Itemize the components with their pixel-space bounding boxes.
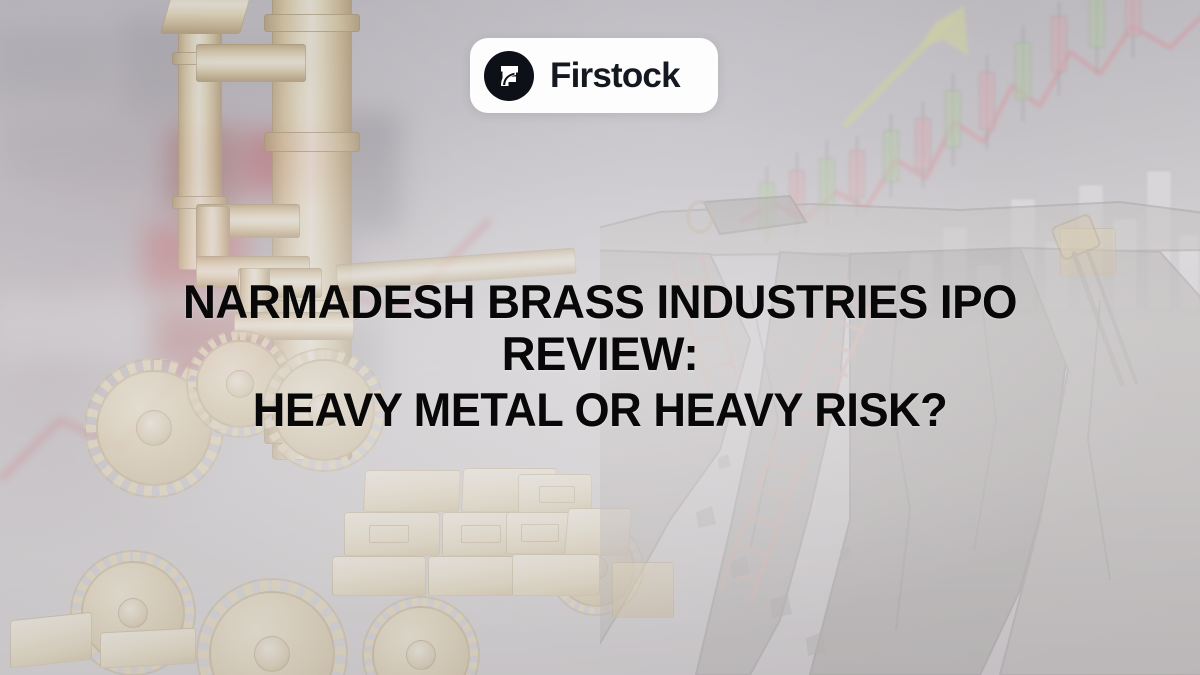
firstock-f-arrow-icon — [484, 51, 534, 101]
headline-line-1: Narmadesh Brass Industries IPO — [57, 278, 1143, 325]
brand-name: Firstock — [550, 58, 680, 93]
page-title: Narmadesh Brass Industries IPO Review: H… — [0, 278, 1200, 433]
ipo-banner: Firstock Narmadesh Brass Industries IPO … — [0, 0, 1200, 675]
headline-line-3: Heavy Metal or Heavy Risk? — [62, 386, 1137, 433]
headline-line-2: Review: — [40, 330, 1160, 377]
brand-logo-pill[interactable]: Firstock — [470, 38, 718, 113]
